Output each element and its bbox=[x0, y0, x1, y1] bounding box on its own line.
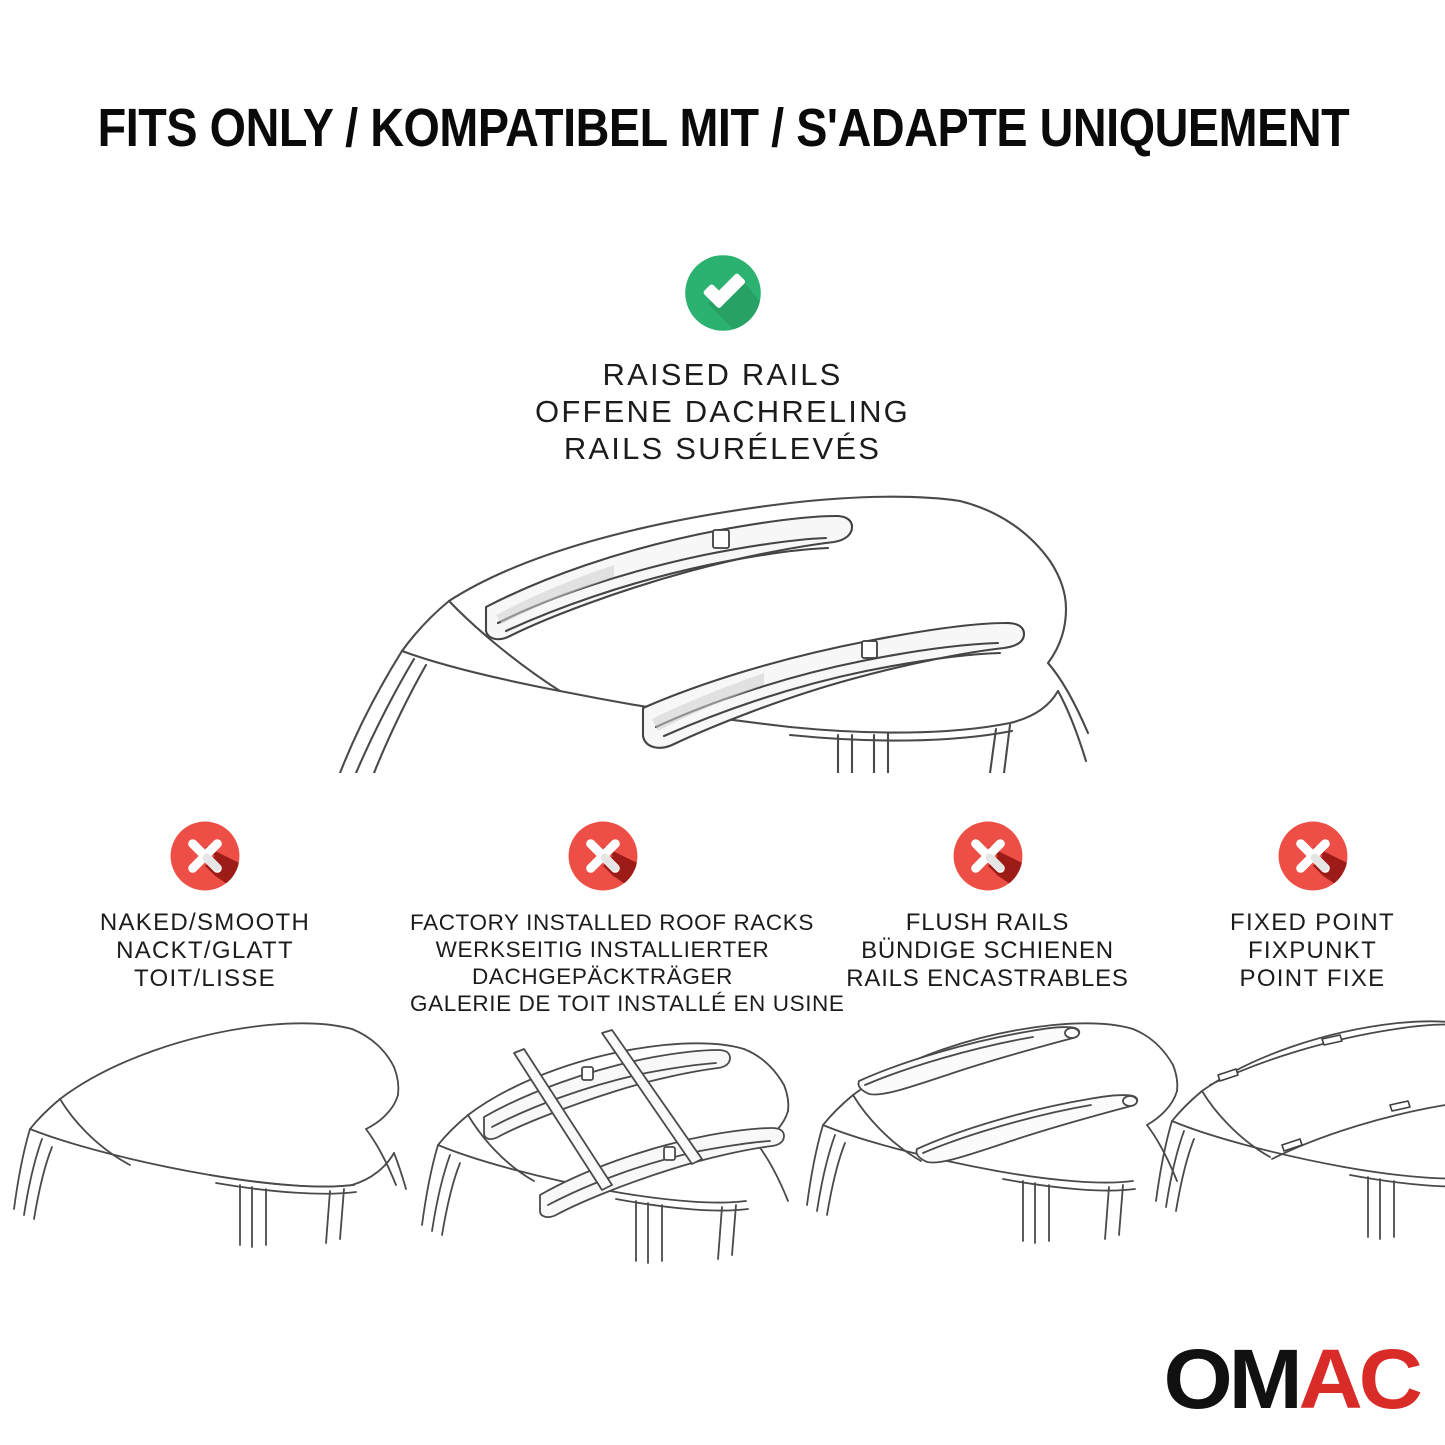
page-title-bar: FITS ONLY / KOMPATIBEL MIT / S'ADAPTE UN… bbox=[0, 98, 1445, 158]
incompatible-item-fixed-point: FIXED POINT FIXPUNKT POINT FIXE bbox=[1180, 815, 1445, 1269]
label-de-2: DACHGEPÄCKTRÄGER bbox=[410, 963, 795, 990]
red-x-circle-icon bbox=[947, 815, 1029, 897]
car-roof-factory-roof-racks-illustration bbox=[410, 1023, 795, 1293]
incompatible-item-factory-roof-racks: FACTORY INSTALLED ROOF RACKS WERKSEITIG … bbox=[410, 815, 795, 1293]
incompatible-labels-fixed-point: FIXED POINT FIXPUNKT POINT FIXE bbox=[1180, 909, 1445, 993]
red-x-circle-icon bbox=[1272, 815, 1354, 897]
label-de-1: WERKSEITIG INSTALLIERTER bbox=[410, 936, 795, 963]
label-en: FLUSH RAILS bbox=[795, 909, 1180, 937]
incompatible-labels-factory-roof-racks: FACTORY INSTALLED ROOF RACKS WERKSEITIG … bbox=[410, 909, 795, 1017]
green-check-circle-icon bbox=[678, 248, 768, 338]
omac-logo-part-1: OM bbox=[1164, 1332, 1299, 1426]
compatible-label-fr: RAILS SURÉLEVÉS bbox=[0, 430, 1445, 467]
label-fr: GALERIE DE TOIT INSTALLÉ EN USINE bbox=[410, 990, 795, 1017]
omac-logo: OMAC bbox=[1164, 1337, 1419, 1421]
label-fr: POINT FIXE bbox=[1180, 965, 1445, 993]
compatible-label-en: RAISED RAILS bbox=[0, 356, 1445, 393]
label-fr: RAILS ENCASTRABLES bbox=[795, 965, 1180, 993]
car-roof-fixed-point-illustration bbox=[1180, 999, 1445, 1269]
incompatible-section: NAKED/SMOOTH NACKT/GLATT TOIT/LISSE bbox=[0, 815, 1445, 1293]
omac-logo-part-2: AC bbox=[1299, 1332, 1419, 1426]
car-roof-with-raised-rails-illustration bbox=[0, 483, 1445, 773]
label-de: NACKT/GLATT bbox=[0, 937, 410, 965]
label-en: NAKED/SMOOTH bbox=[0, 909, 410, 937]
car-roof-naked-smooth-illustration bbox=[0, 999, 410, 1269]
label-de: BÜNDIGE SCHIENEN bbox=[795, 937, 1180, 965]
car-roof-flush-rails-illustration bbox=[795, 999, 1180, 1269]
incompatible-item-flush-rails: FLUSH RAILS BÜNDIGE SCHIENEN RAILS ENCAS… bbox=[795, 815, 1180, 1269]
label-en: FIXED POINT bbox=[1180, 909, 1445, 937]
incompatible-item-naked-smooth: NAKED/SMOOTH NACKT/GLATT TOIT/LISSE bbox=[0, 815, 410, 1269]
label-fr: TOIT/LISSE bbox=[0, 965, 410, 993]
red-x-circle-icon bbox=[164, 815, 246, 897]
compatible-labels: RAISED RAILS OFFENE DACHRELING RAILS SUR… bbox=[0, 356, 1445, 467]
label-en: FACTORY INSTALLED ROOF RACKS bbox=[410, 909, 795, 936]
incompatible-labels-flush-rails: FLUSH RAILS BÜNDIGE SCHIENEN RAILS ENCAS… bbox=[795, 909, 1180, 993]
page-title: FITS ONLY / KOMPATIBEL MIT / S'ADAPTE UN… bbox=[98, 98, 1350, 158]
incompatible-labels-naked-smooth: NAKED/SMOOTH NACKT/GLATT TOIT/LISSE bbox=[0, 909, 410, 993]
label-de: FIXPUNKT bbox=[1180, 937, 1445, 965]
compatible-section: RAISED RAILS OFFENE DACHRELING RAILS SUR… bbox=[0, 248, 1445, 773]
compatible-label-de: OFFENE DACHRELING bbox=[0, 393, 1445, 430]
red-x-circle-icon bbox=[562, 815, 644, 897]
